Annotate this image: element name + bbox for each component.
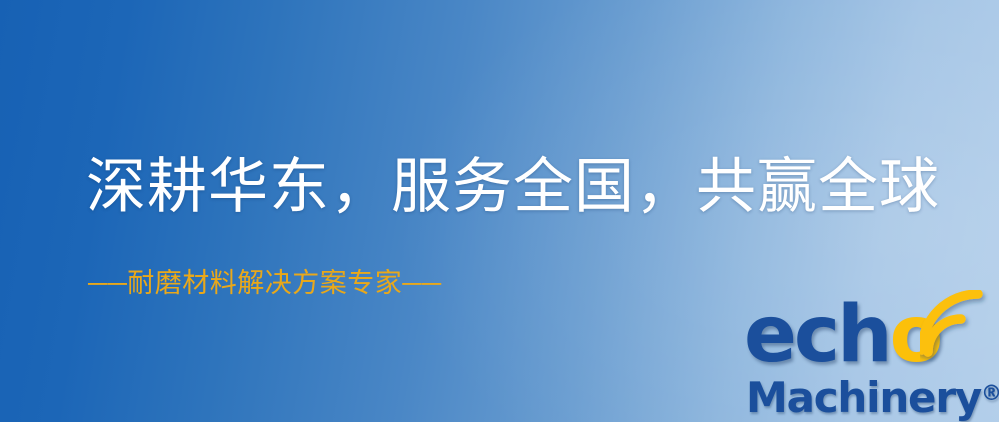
- banner-subtitle: ──耐磨材料解决方案专家──: [88, 266, 442, 300]
- logo-wordmark-prefix: ech: [744, 290, 890, 380]
- logo-tagline: Machinery®: [746, 369, 999, 422]
- company-logo: echo Machinery®: [742, 292, 994, 418]
- echo-waves-icon: [920, 290, 994, 362]
- registered-trademark-icon: ®: [981, 381, 999, 405]
- logo-wordmark: echo: [744, 292, 940, 378]
- logo-tagline-text: Machinery: [746, 373, 981, 422]
- banner-headline: 深耕华东，服务全国，共赢全球: [86, 152, 940, 222]
- hero-banner: 深耕华东，服务全国，共赢全球 ──耐磨材料解决方案专家── echo Machi…: [0, 0, 999, 422]
